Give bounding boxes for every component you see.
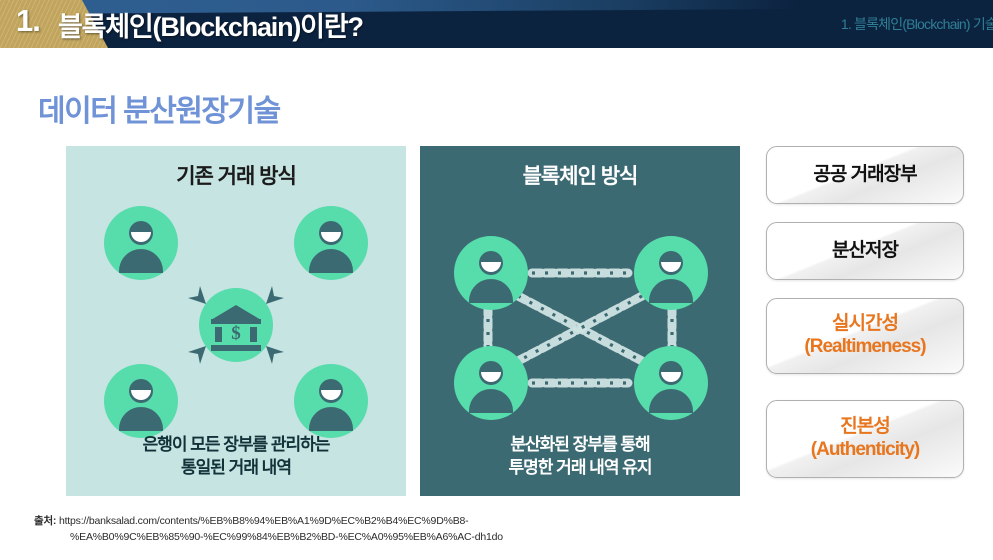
person-body-icon (649, 279, 693, 303)
breadcrumb: 1. 블록체인(Blockchain) 기술 (841, 14, 993, 34)
keyword-label: 진본성 (840, 416, 889, 439)
person-node-bottom-left (104, 364, 178, 438)
arrow-top-right-to-bank (262, 274, 296, 308)
person-body-icon (119, 249, 163, 273)
arrow-bottom-left-to-bank (176, 342, 210, 376)
caption-line-2: 투명한 거래 내역 유지 (509, 458, 652, 477)
person-node-top-left (104, 206, 178, 280)
keyword-box-distributed-storage[interactable]: 분산저장 (766, 222, 964, 280)
keyword-box-realtimeness[interactable]: 실시간성 (Realtimeness) (766, 298, 964, 374)
person-node-top-right (634, 236, 708, 310)
person-body-icon (469, 389, 513, 413)
source-url-line-2: %EA%B0%9C%EB%85%90-%EC%99%84%EB%B2%BD-%E… (34, 530, 734, 546)
keyword-box-authenticity[interactable]: 진본성 (Authenticity) (766, 400, 964, 478)
panel-blockchain-caption: 분산화된 장부를 통해 투명한 거래 내역 유지 (420, 434, 740, 480)
person-node-bottom-right (634, 346, 708, 420)
person-head-icon (129, 379, 153, 403)
person-node-bottom-left (454, 346, 528, 420)
panel-blockchain-transaction: 블록체인 방식 (420, 146, 740, 496)
person-head-icon (319, 379, 343, 403)
person-head-icon (479, 251, 503, 275)
keyword-label: 분산저장 (832, 240, 898, 263)
keyword-sublabel: (Realtimeness) (804, 336, 925, 359)
panel-blockchain-title: 블록체인 방식 (420, 160, 740, 190)
person-body-icon (119, 407, 163, 431)
keyword-label: 공공 거래장부 (813, 164, 916, 187)
dollar-sign-glyph: $ (199, 324, 273, 343)
panel-traditional-caption: 은행이 모든 장부를 관리하는 통일된 거래 내역 (66, 434, 406, 480)
person-body-icon (469, 279, 513, 303)
person-node-top-right (294, 206, 368, 280)
person-head-icon (659, 361, 683, 385)
panel-traditional-transaction: 기존 거래 방식 $ (66, 146, 406, 496)
caption-line-1: 분산화된 장부를 통해 (510, 435, 649, 454)
header-section-number: 1. (16, 3, 40, 39)
panel-traditional-title: 기존 거래 방식 (66, 160, 406, 190)
section-subtitle: 데이터 분산원장기술 (38, 86, 280, 130)
person-head-icon (659, 251, 683, 275)
person-head-icon (479, 361, 503, 385)
slide-header: 1. 블록체인(Blockchain)이란? 1. 블록체인(Blockchai… (0, 0, 993, 48)
keyword-label: 실시간성 (832, 313, 898, 336)
person-body-icon (309, 249, 353, 273)
source-label: 출처: (34, 515, 56, 527)
person-head-icon (129, 221, 153, 245)
arrow-top-left-to-bank (176, 274, 210, 308)
keyword-box-public-ledger[interactable]: 공공 거래장부 (766, 146, 964, 204)
person-node-bottom-right (294, 364, 368, 438)
person-body-icon (309, 407, 353, 431)
arrow-bottom-right-to-bank (262, 342, 296, 376)
person-node-top-left (454, 236, 528, 310)
person-head-icon (319, 221, 343, 245)
source-url-line-1: https://banksalad.com/contents/%EB%B8%94… (59, 515, 469, 527)
page-title: 블록체인(Blockchain)이란? (58, 5, 363, 44)
caption-line-2: 통일된 거래 내역 (181, 458, 291, 477)
source-footnote: 출처: https://banksalad.com/contents/%EB%B… (34, 514, 734, 546)
keyword-sublabel: (Authenticity) (811, 439, 919, 462)
person-body-icon (649, 389, 693, 413)
caption-line-1: 은행이 모든 장부를 관리하는 (143, 435, 330, 454)
